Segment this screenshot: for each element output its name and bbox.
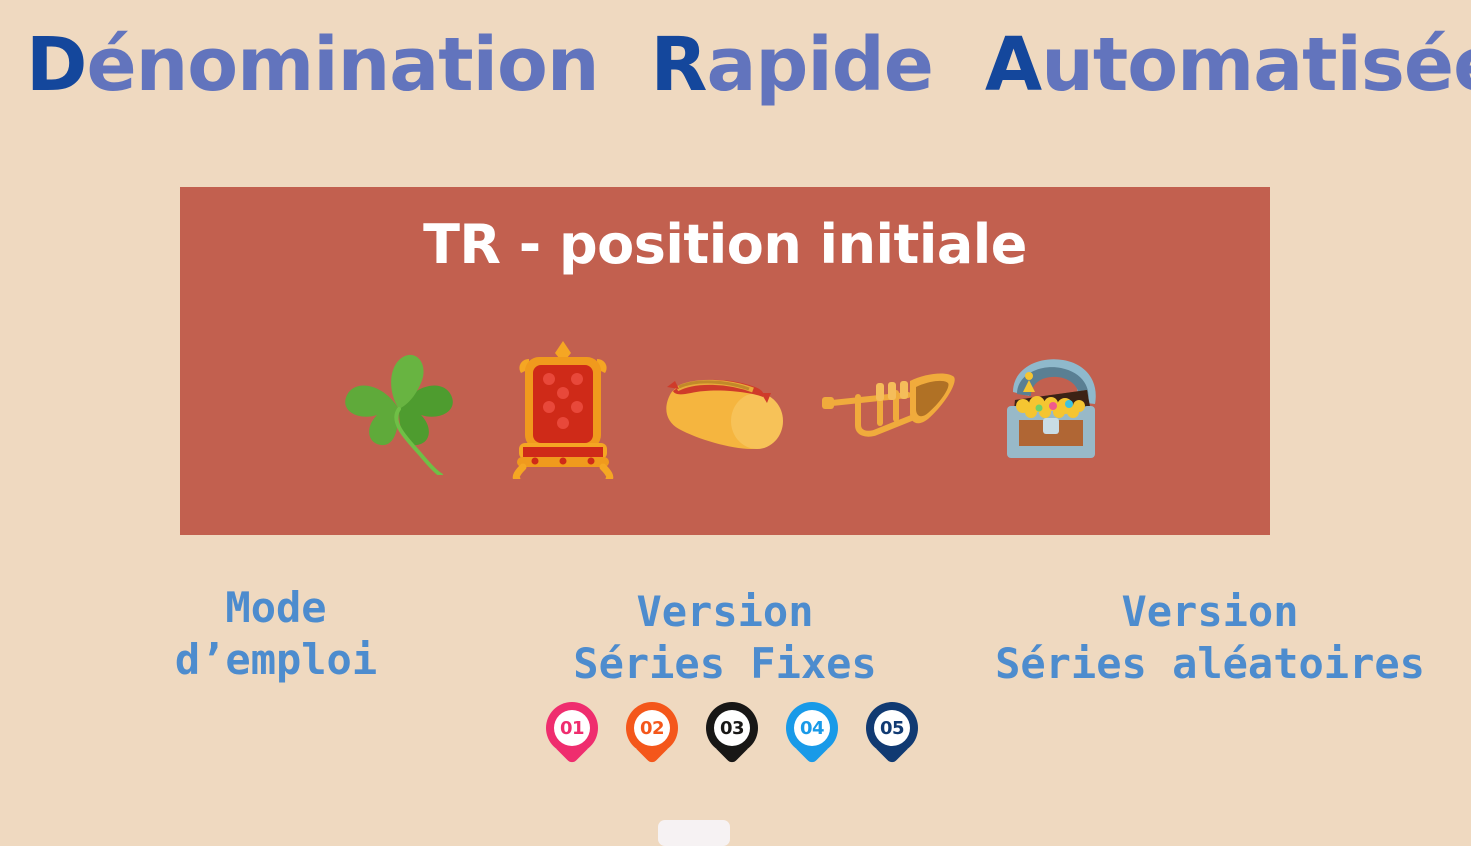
title-rest-rapide: apide <box>706 22 932 108</box>
title-rest-automatisee: utomatisée <box>1041 22 1471 108</box>
pencil-case-image <box>655 339 795 479</box>
series-pin-row: 01 02 03 04 05 <box>546 702 918 768</box>
title-initial-d: D <box>26 22 86 108</box>
pin-label-02: 02 <box>634 710 670 746</box>
pin-label-05: 05 <box>874 710 910 746</box>
banner-title: TR - position initiale <box>180 213 1270 276</box>
label-version-series-aleatoires[interactable]: Version Séries aléatoires <box>960 586 1460 690</box>
treasure-chest-image <box>980 339 1120 479</box>
series-pin-05[interactable]: 05 <box>866 702 918 762</box>
title-initial-a: A <box>985 22 1041 108</box>
pin-label-01: 01 <box>554 710 590 746</box>
clover-image <box>330 339 470 479</box>
label-mode-emploi[interactable]: Mode d’emploi <box>96 582 456 686</box>
page-title: DénominationRapideAutomatisée <box>0 26 1471 106</box>
stimulus-banner: TR - position initiale <box>180 187 1270 535</box>
section-labels: Mode d’emploi Version Séries Fixes Versi… <box>0 578 1471 688</box>
throne-image <box>493 339 633 479</box>
title-rest-denomination: énomination <box>86 22 598 108</box>
bottom-partial-button[interactable] <box>658 820 730 846</box>
trumpet-image <box>818 339 958 479</box>
pin-label-03: 03 <box>714 710 750 746</box>
pin-label-04: 04 <box>794 710 830 746</box>
label-version-series-fixes[interactable]: Version Séries Fixes <box>520 586 930 690</box>
title-word-automatisee: Automatisée <box>985 26 1471 106</box>
series-pin-03[interactable]: 03 <box>706 702 758 762</box>
stimulus-items-row <box>330 339 1120 479</box>
title-word-rapide: Rapide <box>651 26 933 106</box>
series-pin-01[interactable]: 01 <box>546 702 598 762</box>
title-word-denomination: Dénomination <box>26 26 599 106</box>
series-pin-04[interactable]: 04 <box>786 702 838 762</box>
series-pin-02[interactable]: 02 <box>626 702 678 762</box>
title-initial-r: R <box>651 22 707 108</box>
